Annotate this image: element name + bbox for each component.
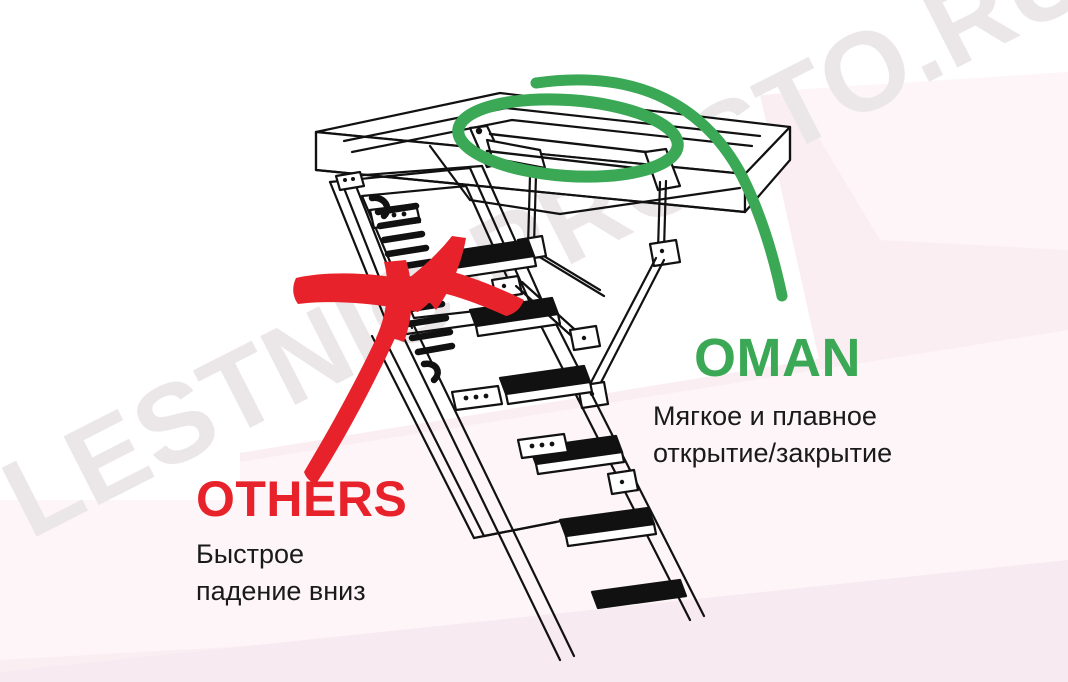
oman-description: Мягкое и плавное открытие/закрытие xyxy=(653,398,892,473)
oman-description-line-2: открытие/закрытие xyxy=(653,435,892,472)
oman-description-line-1: Мягкое и плавное xyxy=(653,398,892,435)
oman-brand-title: OMAN xyxy=(694,331,861,385)
others-description: Быстрое падение вниз xyxy=(196,536,366,611)
callout-others: OTHERS xyxy=(196,474,407,524)
others-brand-title: OTHERS xyxy=(196,474,407,524)
callout-oman: OMAN xyxy=(694,331,861,385)
callout-oman-description: Мягкое и плавное открытие/закрытие xyxy=(653,392,892,473)
text-labels: OMAN Мягкое и плавное открытие/закрытие … xyxy=(0,0,1068,682)
callout-others-description: Быстрое падение вниз xyxy=(196,530,366,611)
others-description-line-1: Быстрое xyxy=(196,536,366,573)
others-description-line-2: падение вниз xyxy=(196,573,366,610)
infographic-canvas: LESTNIC-PROSTO.RU xyxy=(0,0,1068,682)
